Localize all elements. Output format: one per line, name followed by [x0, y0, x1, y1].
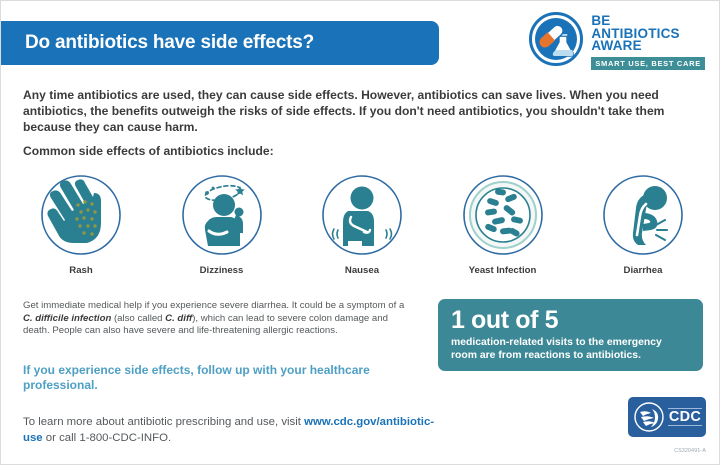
- side-effect-label: Rash: [69, 265, 92, 276]
- side-effect-label: Nausea: [345, 265, 379, 276]
- learn-more-part-2: or call 1-800-CDC-INFO.: [43, 432, 171, 444]
- learn-more-text: To learn more about antibiotic prescribi…: [23, 414, 453, 446]
- petri-dish-bacteria-icon: [459, 171, 547, 259]
- follow-up-message: If you experience side effects, follow u…: [23, 363, 413, 392]
- nausea-person-icon: [318, 171, 406, 259]
- publication-code: CS320491-A: [674, 448, 706, 454]
- intro-subheading: Common side effects of antibiotics inclu…: [23, 144, 274, 158]
- dizziness-person-icon: [178, 171, 266, 259]
- warning-part-2: (also called: [111, 313, 165, 324]
- diarrhea-person-icon: [599, 171, 687, 259]
- header-bar: Do antibiotics have side effects?: [0, 21, 439, 65]
- page-title: Do antibiotics have side effects?: [0, 32, 314, 54]
- baa-capsule-flask-icon: [529, 12, 583, 66]
- rash-hand-icon: [37, 171, 125, 259]
- stat-callout: 1 out of 5 medication-related visits to …: [438, 299, 703, 371]
- intro-paragraph: Any time antibiotics are used, they can …: [23, 87, 683, 136]
- side-effect-dizziness: Dizziness: [158, 171, 286, 276]
- cdiff-warning-text: Get immediate medical help if you experi…: [23, 300, 413, 338]
- side-effect-yeast-infection: Yeast Infection: [439, 171, 567, 276]
- stat-description: medication-related visits to the emergen…: [451, 336, 690, 362]
- side-effect-label: Yeast Infection: [469, 265, 537, 276]
- baa-wordmark: BE ANTIBIOTICS AWARE SMART USE, BEST CAR…: [591, 12, 705, 71]
- hhs-eagle-icon: [632, 400, 666, 434]
- infographic-page: Do antibiotics have side effects? BE ANT…: [0, 0, 720, 465]
- cdc-hhs-logo: CDC: [628, 397, 706, 437]
- cdc-wordmark: CDC: [668, 408, 702, 426]
- warning-part-1: Get immediate medical help if you experi…: [23, 300, 404, 311]
- side-effects-row: Rash: [17, 171, 707, 276]
- side-effect-rash: Rash: [17, 171, 145, 276]
- side-effect-label: Diarrhea: [624, 265, 663, 276]
- learn-more-part-1: To learn more about antibiotic prescribi…: [23, 416, 304, 428]
- baa-tagline: SMART USE, BEST CARE: [591, 57, 705, 70]
- be-antibiotics-aware-logo: BE ANTIBIOTICS AWARE SMART USE, BEST CAR…: [529, 12, 705, 71]
- side-effect-diarrhea: Diarrhea: [579, 171, 707, 276]
- cdifficile-term: C. difficile infection: [23, 313, 111, 324]
- side-effect-nausea: Nausea: [298, 171, 426, 276]
- baa-line-3: AWARE: [591, 40, 705, 53]
- stat-headline: 1 out of 5: [451, 307, 690, 333]
- side-effect-label: Dizziness: [200, 265, 244, 276]
- cdiff-term: C. diff: [165, 313, 192, 324]
